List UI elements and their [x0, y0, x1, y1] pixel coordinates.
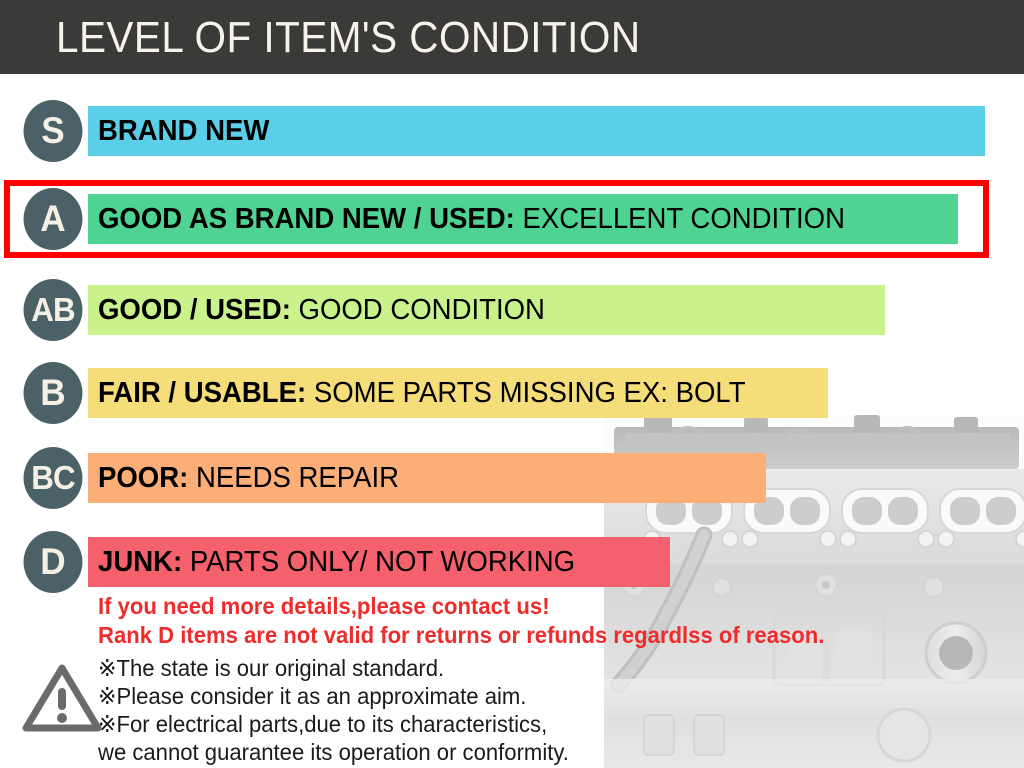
rank-label-bold-ab: GOOD / USED:	[98, 294, 291, 326]
rank-badge-d: D	[24, 531, 83, 593]
notice-red-line-1: If you need more details,please contact …	[98, 592, 962, 621]
rank-label-bold-b: FAIR / USABLE:	[98, 377, 306, 409]
warning-triangle-icon	[22, 662, 102, 734]
notice-red-line-2: Rank D items are not valid for returns o…	[98, 621, 962, 650]
rank-label-bc: POOR: NEEDS REPAIR	[98, 453, 399, 503]
rank-label-normal-d: PARTS ONLY/ NOT WORKING	[182, 546, 575, 578]
rank-label-b: FAIR / USABLE: SOME PARTS MISSING EX: BO…	[98, 368, 746, 418]
page-title: LEVEL OF ITEM'S CONDITION	[56, 13, 641, 63]
notice-black-line-1: ※The state is our original standard.	[98, 654, 962, 682]
rank-row-a: A GOOD AS BRAND NEW / USED: EXCELLENT CO…	[0, 188, 1024, 250]
rank-label-bold-a: GOOD AS BRAND NEW / USED:	[98, 203, 515, 235]
rank-label-bold-bc: POOR:	[98, 462, 188, 494]
rank-badge-s: S	[24, 100, 83, 162]
rank-row-d: D JUNK: PARTS ONLY/ NOT WORKING	[0, 531, 1024, 593]
rank-label-bold-d: JUNK:	[98, 546, 182, 578]
notice-black-lines: ※The state is our original standard. ※Pl…	[98, 654, 998, 766]
notice-block: If you need more details,please contact …	[98, 592, 998, 766]
notice-black-line-3: ※For electrical parts,due to its charact…	[98, 710, 962, 738]
rank-label-bold-s: BRAND NEW	[98, 115, 269, 147]
rank-label-normal-ab: GOOD CONDITION	[291, 294, 545, 326]
rank-badge-bc: BC	[24, 447, 83, 509]
rank-label-d: JUNK: PARTS ONLY/ NOT WORKING	[98, 537, 575, 587]
header-bar: LEVEL OF ITEM'S CONDITION	[0, 0, 1024, 74]
rank-badge-ab: AB	[24, 279, 83, 341]
notice-black-line-4: we cannot guarantee its operation or con…	[98, 738, 962, 766]
rank-badge-b: B	[24, 362, 83, 424]
rank-label-normal-bc: NEEDS REPAIR	[188, 462, 399, 494]
rank-row-bc: BC POOR: NEEDS REPAIR	[0, 447, 1024, 509]
rank-label-normal-a: EXCELLENT CONDITION	[515, 203, 845, 235]
rank-row-b: B FAIR / USABLE: SOME PARTS MISSING EX: …	[0, 362, 1024, 424]
rank-label-ab: GOOD / USED: GOOD CONDITION	[98, 285, 545, 335]
notice-black-line-2: ※Please consider it as an approximate ai…	[98, 682, 962, 710]
rank-row-s: S BRAND NEW	[0, 100, 1024, 162]
rank-badge-a: A	[24, 188, 83, 250]
rank-label-a: GOOD AS BRAND NEW / USED: EXCELLENT COND…	[98, 194, 845, 244]
rank-label-normal-b: SOME PARTS MISSING EX: BOLT	[306, 377, 745, 409]
rank-row-ab: AB GOOD / USED: GOOD CONDITION	[0, 279, 1024, 341]
rank-label-s: BRAND NEW	[98, 106, 269, 156]
